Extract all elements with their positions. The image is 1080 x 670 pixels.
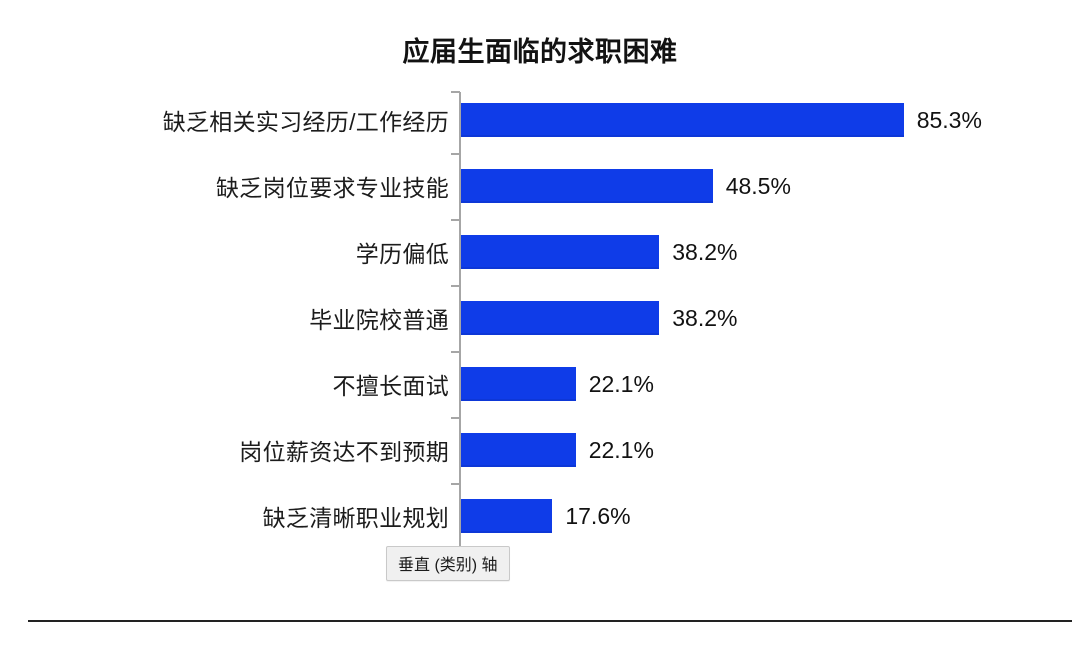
- category-label[interactable]: 学历偏低: [356, 235, 449, 269]
- bar-value-label: 48.5%: [726, 175, 791, 198]
- category-label[interactable]: 缺乏相关实习经历/工作经历: [163, 103, 449, 137]
- bar-value-label: 38.2%: [672, 307, 737, 330]
- bar[interactable]: [461, 235, 659, 269]
- bar[interactable]: [461, 433, 576, 467]
- chart-container: 应届生面临的求职困难 缺乏相关实习经历/工作经历85.3%缺乏岗位要求专业技能4…: [0, 0, 1080, 670]
- bar-value-label: 22.1%: [589, 439, 654, 462]
- bar-row: 缺乏相关实习经历/工作经历85.3%: [0, 87, 1080, 153]
- bar[interactable]: [461, 367, 576, 401]
- bar-value-label: 17.6%: [565, 505, 630, 528]
- bar-value-label: 22.1%: [589, 373, 654, 396]
- bar[interactable]: [461, 103, 904, 137]
- bar-row: 岗位薪资达不到预期22.1%: [0, 417, 1080, 483]
- bar[interactable]: [461, 499, 552, 533]
- axis-tooltip: 垂直 (类别) 轴: [386, 546, 510, 581]
- bar-value-label: 38.2%: [672, 241, 737, 264]
- bar-and-value: 38.2%: [461, 235, 737, 269]
- plot-area: 缺乏相关实习经历/工作经历85.3%缺乏岗位要求专业技能48.5%学历偏低38.…: [0, 88, 1080, 553]
- category-label[interactable]: 缺乏清晰职业规划: [263, 499, 449, 533]
- bar-and-value: 48.5%: [461, 169, 791, 203]
- category-label[interactable]: 缺乏岗位要求专业技能: [216, 169, 449, 203]
- bar-and-value: 22.1%: [461, 367, 654, 401]
- bar-and-value: 38.2%: [461, 301, 737, 335]
- bar[interactable]: [461, 169, 713, 203]
- category-label[interactable]: 毕业院校普通: [309, 301, 449, 335]
- bar-row: 不擅长面试22.1%: [0, 351, 1080, 417]
- category-label[interactable]: 不擅长面试: [333, 367, 450, 401]
- chart-title: 应届生面临的求职困难: [0, 30, 1080, 69]
- bar-row: 缺乏清晰职业规划17.6%: [0, 483, 1080, 549]
- bar[interactable]: [461, 301, 659, 335]
- bottom-divider: [28, 620, 1072, 622]
- bar-row: 缺乏岗位要求专业技能48.5%: [0, 153, 1080, 219]
- bar-and-value: 85.3%: [461, 103, 982, 137]
- bar-value-label: 85.3%: [917, 109, 982, 132]
- bar-and-value: 22.1%: [461, 433, 654, 467]
- bar-row: 毕业院校普通38.2%: [0, 285, 1080, 351]
- bar-row: 学历偏低38.2%: [0, 219, 1080, 285]
- bar-and-value: 17.6%: [461, 499, 631, 533]
- category-label[interactable]: 岗位薪资达不到预期: [239, 433, 449, 467]
